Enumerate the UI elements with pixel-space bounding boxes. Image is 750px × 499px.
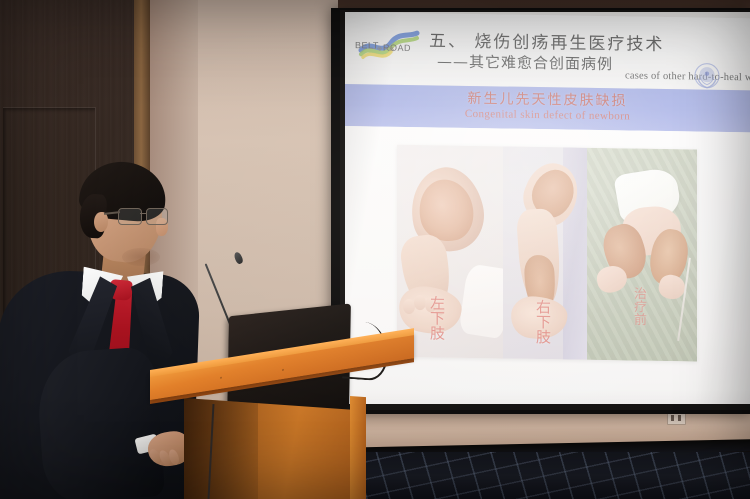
belt-and-road-logo-chinese: 一带一路 [371, 45, 395, 52]
slide-header: BELT ROAD 一带一路 五、 烧伤创疡再生医疗技术 ——其它难愈合创面病例… [345, 12, 750, 91]
clinical-photo-1: 左下肢 [397, 145, 503, 359]
eyeglass-bridge [140, 213, 147, 214]
slide-title-line2: ——其它难愈合创面病例 [437, 50, 613, 74]
eyeglass-lens-left [118, 208, 142, 225]
clinical-photo-3: 治疗前 [587, 148, 697, 362]
photo-caption-3: 治疗前 [631, 286, 646, 325]
podium-detail [282, 369, 284, 371]
podium-detail [220, 377, 222, 379]
presentation-scene: BELT ROAD 一带一路 五、 烧伤创疡再生医疗技术 ——其它难愈合创面病例… [0, 0, 750, 499]
photo-caption-1: 左下肢 [429, 295, 444, 340]
podium-right-edge [350, 396, 366, 499]
clinical-photo-strip: 左下肢 右下肢 [397, 145, 697, 362]
clinical-photo-2: 右下肢 [503, 146, 587, 359]
slide-title-english: cases of other hard-to-heal wound [625, 70, 750, 83]
jaw-shadow [122, 248, 160, 266]
photo-caption-2: 右下肢 [535, 299, 550, 344]
surgical-drape [458, 263, 503, 339]
eyeglass-lens-right [146, 208, 168, 225]
ear [94, 212, 108, 232]
eyeglasses-icon [118, 208, 170, 226]
arm [35, 346, 165, 499]
un-style-emblem-icon [693, 61, 721, 89]
podium-front-shadow [184, 398, 258, 499]
